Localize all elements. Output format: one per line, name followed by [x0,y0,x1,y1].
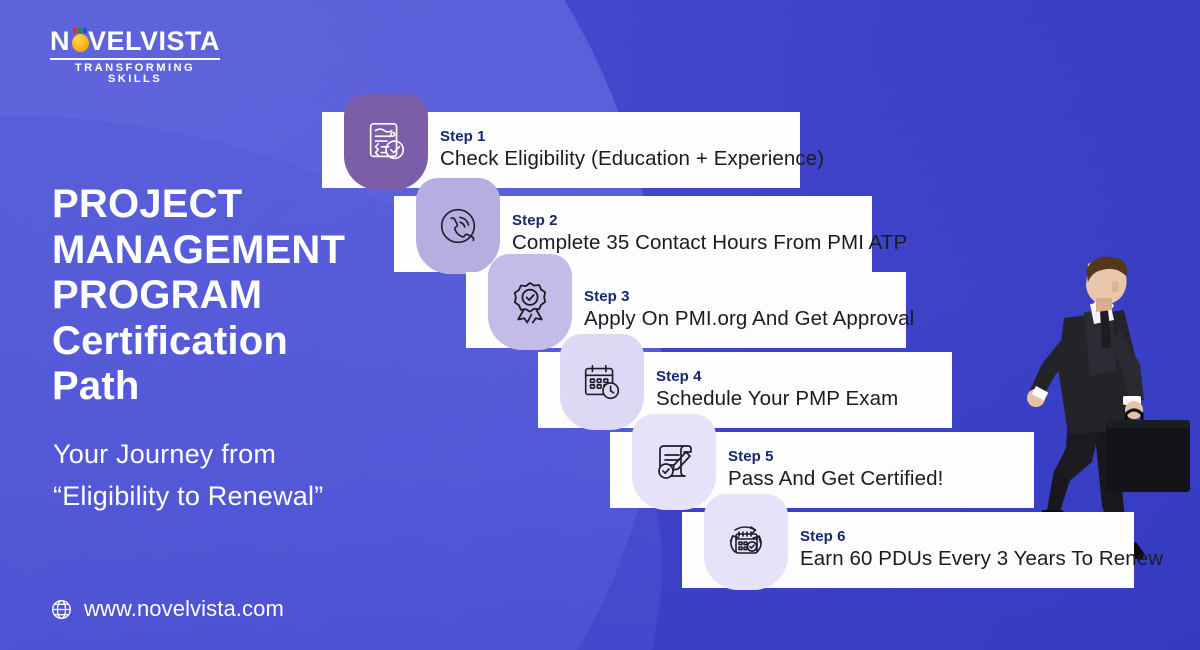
calendar-clock-icon [579,359,625,405]
subtitle-line-1: Your Journey from [53,434,473,476]
step-label-5: Step 5 [728,449,943,466]
infographic-canvas: N VELVISTA TRANSFORMING SKILLS PROJECT M… [0,0,1200,650]
step-description-1: Check Eligibility (Education + Experienc… [440,147,824,171]
step-description-5: Pass And Get Certified! [728,467,943,491]
title-line-5: Path [52,364,452,410]
logo-divider [50,58,220,60]
step-icon-tile-1 [344,94,428,190]
step-description-6: Earn 60 PDUs Every 3 Years To Renew [800,547,1163,571]
step-label-1: Step 1 [440,129,824,146]
step-label-4: Step 4 [656,369,898,386]
step-icon-tile-5 [632,414,716,510]
page-title: PROJECT MANAGEMENT PROGRAM Certification… [52,182,452,410]
brand-name-suffix: VELVISTA [88,28,220,55]
step-icon-tile-3 [488,254,572,350]
step-icon-tile-6 [704,494,788,590]
subtitle-line-2: “Eligibility to Renewal” [53,476,473,518]
page-subtitle: Your Journey from “Eligibility to Renewa… [53,434,473,518]
title-line-4: Certification [52,319,452,365]
calendar-renew-arrows-icon [722,518,770,566]
phone-call-icon [435,203,481,249]
step-description-4: Schedule Your PMP Exam [656,387,898,411]
globe-icon [50,598,73,621]
step-description-2: Complete 35 Contact Hours From PMI ATP [512,231,907,255]
step-description-3: Apply On PMI.org And Get Approval [584,307,914,331]
title-line-2: MANAGEMENT [52,228,452,274]
step-icon-tile-2 [416,178,500,274]
brand-tagline: TRANSFORMING SKILLS [50,63,220,85]
brand-logo: N VELVISTA TRANSFORMING SKILLS [50,28,220,85]
novelvista-logo-mark [71,30,87,53]
certificate-scroll-pen-icon [650,438,698,486]
step-icon-tile-4 [560,334,644,430]
step-label-3: Step 3 [584,289,914,306]
footer-website[interactable]: www.novelvista.com [50,596,284,622]
checklist-document-check-icon [363,119,409,165]
brand-name-prefix: N [50,28,70,55]
title-line-3: PROGRAM [52,273,452,319]
brand-logo-wordmark: N VELVISTA [50,28,220,55]
website-url: www.novelvista.com [84,596,284,622]
step-label-6: Step 6 [800,529,1163,546]
step-label-2: Step 2 [512,213,907,230]
award-badge-check-icon [506,278,554,326]
